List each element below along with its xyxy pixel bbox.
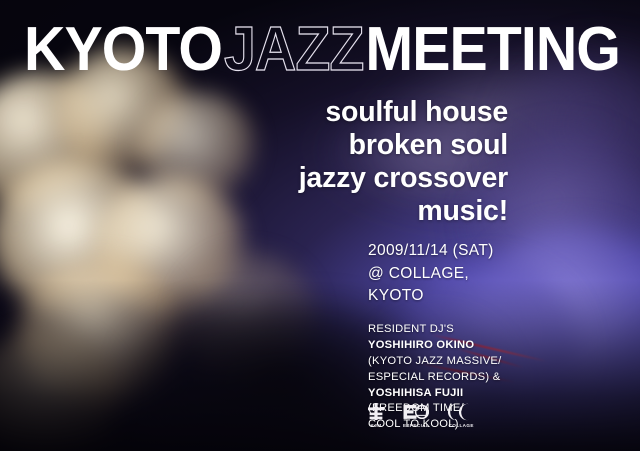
event-venue-line-2: KYOTO [368,285,598,308]
collage-mark-icon [446,402,476,422]
title-part-jazz: JAZZ [224,18,364,80]
dj1-name: YOSHIHIRO OKINO [368,338,598,354]
logo-especial-records: ESPECIAL [403,402,429,429]
kjm-wordmark: KJM [371,424,382,429]
tagline-line-2: broken soul [88,129,508,162]
title-part-meeting: MEETING [365,18,620,80]
dj1-affiliation-line-2: ESPECIAL RECORDS) & [368,370,598,386]
dj1-affiliation-line-1: (KYOTO JAZZ MASSIVE/ [368,354,598,370]
especial-wordmark: ESPECIAL [403,424,429,429]
title-lockup-svg: KYOTO JAZZ MEETING [24,18,624,80]
collage-wordmark: COLLAGE [449,424,474,429]
logo-collage: COLLAGE [446,402,476,429]
kjm-mark-icon [366,402,386,422]
poster: KYOTO JAZZ MEETING soulful house broken … [0,0,640,451]
tagline-line-4: music! [88,195,508,228]
tagline-line-3: jazzy crossover [88,162,508,195]
especial-mark-icon [403,402,429,422]
event-date: 2009/11/14 (SAT) [368,240,598,263]
event-venue-line-1: @ COLLAGE, [368,263,598,286]
sponsor-logos: KJM ESPECIAL COLLAGE [366,402,476,429]
logo-kyoto-jazz-massive: KJM [366,402,386,429]
poster-title: KYOTO JAZZ MEETING [24,18,624,80]
tagline-line-1: soulful house [88,96,508,129]
tagline-block: soulful house broken soul jazzy crossove… [88,96,508,228]
dj2-name: YOSHIHISA FUJII [368,386,598,402]
title-part-kyoto: KYOTO [24,18,222,80]
credits-heading: RESIDENT DJ'S [368,322,598,338]
